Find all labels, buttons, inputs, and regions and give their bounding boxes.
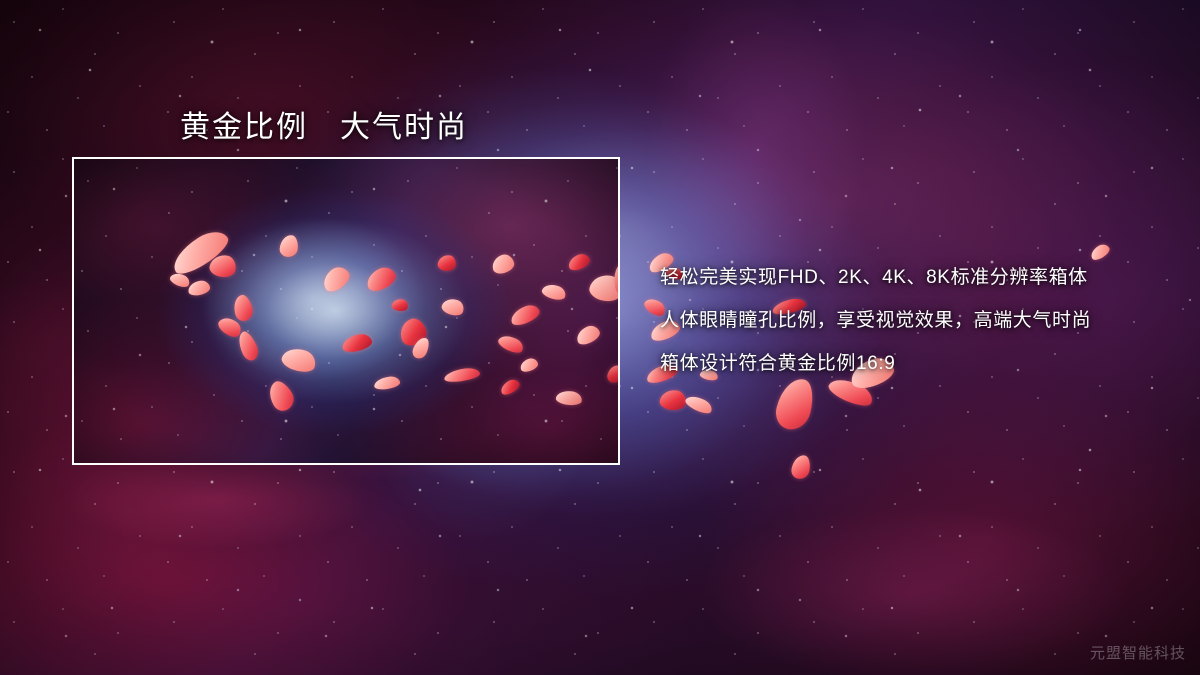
body-line-1: 轻松完美实现FHD、2K、4K、8K标准分辨率箱体 (660, 256, 1160, 299)
watermark: 元盟智能科技 (1090, 642, 1186, 663)
body-line-3: 箱体设计符合黄金比例16:9 (660, 342, 1160, 385)
petal (790, 454, 812, 481)
body-text-block: 轻松完美实现FHD、2K、4K、8K标准分辨率箱体 人体眼睛瞳孔比例，享受视觉效… (660, 256, 1160, 385)
presentation-slide: 黄金比例 大气时尚 轻松完美实现FHD、2K、4K、8K标准分辨率箱体 人体眼睛… (0, 0, 1200, 675)
page-title: 黄金比例 大气时尚 (180, 102, 468, 146)
petal (659, 388, 688, 411)
body-line-2: 人体眼睛瞳孔比例，享受视觉效果，高端大气时尚 (660, 299, 1160, 342)
framed-image-vignette (74, 159, 618, 463)
framed-image (72, 157, 620, 465)
petal (684, 393, 715, 417)
